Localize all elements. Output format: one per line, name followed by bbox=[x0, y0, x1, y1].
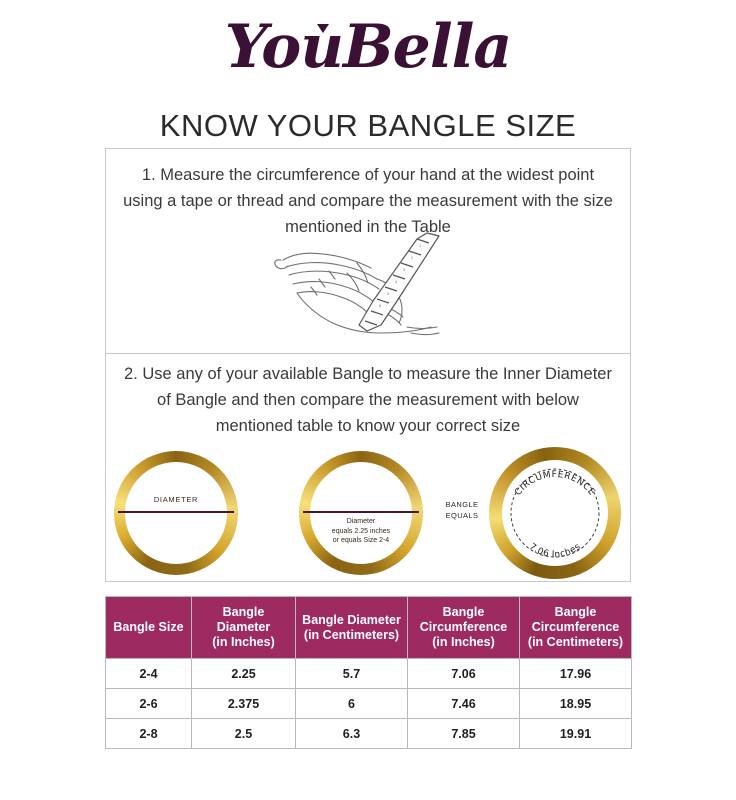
step-2-text: 2. Use any of your available Bangle to m… bbox=[120, 361, 616, 439]
svg-text:5: 5 bbox=[387, 292, 389, 296]
circumference-top-label: CIRCUMFERENCE bbox=[513, 470, 596, 498]
svg-text:6: 6 bbox=[379, 304, 381, 308]
table-header-bangle-size: Bangle Size bbox=[106, 597, 192, 659]
cell-circumference-in: 7.46 bbox=[408, 689, 520, 719]
cell-size: 2-8 bbox=[106, 719, 192, 749]
svg-text:4: 4 bbox=[395, 280, 397, 284]
diameter-label: DIAMETER bbox=[134, 495, 218, 504]
caption-line-2: equals 2.25 inches bbox=[312, 527, 410, 537]
cell-circumference-in: 7.85 bbox=[408, 719, 520, 749]
cell-diameter-cm: 6 bbox=[296, 689, 408, 719]
table-row: 2-4 2.25 5.7 7.06 17.96 bbox=[106, 659, 632, 689]
table-header-row: Bangle Size Bangle Diameter (in Inches) … bbox=[106, 597, 632, 659]
brand-logo: YouBella bbox=[0, 12, 736, 90]
diamond-icon bbox=[317, 24, 329, 33]
table-header-diameter-centimeters: Bangle Diameter (in Centimeters) bbox=[296, 597, 408, 659]
bangle-equals-line-2: EQUALS bbox=[432, 510, 492, 521]
diameter-line bbox=[118, 511, 234, 513]
diameter-line-2 bbox=[303, 511, 419, 513]
brand-name: YouBella bbox=[225, 12, 512, 82]
bangle-equals-label: BANGLE EQUALS bbox=[432, 499, 492, 521]
caption-line-1: Diameter bbox=[312, 517, 410, 527]
cell-circumference-cm: 19.91 bbox=[520, 719, 632, 749]
svg-text:CIRCUMFERENCE: CIRCUMFERENCE bbox=[513, 470, 596, 498]
section-divider bbox=[106, 353, 630, 354]
instructions-box: 1. Measure the circumference of your han… bbox=[105, 148, 631, 582]
bangle-equals-line-1: BANGLE bbox=[432, 499, 492, 510]
cell-circumference-cm: 18.95 bbox=[520, 689, 632, 719]
table-header-circumference-inches: Bangle Circumference (in Inches) bbox=[408, 597, 520, 659]
cell-diameter-in: 2.5 bbox=[192, 719, 296, 749]
page-title: KNOW YOUR BANGLE SIZE bbox=[0, 108, 736, 144]
cell-size: 2-6 bbox=[106, 689, 192, 719]
caption-line-3: or equals Size 2-4 bbox=[312, 536, 410, 546]
cell-circumference-cm: 17.96 bbox=[520, 659, 632, 689]
bangle-ring-diameter bbox=[114, 451, 238, 575]
svg-text:2: 2 bbox=[411, 256, 413, 260]
circumference-labels: CIRCUMFERENCE 7.06 Inches bbox=[489, 447, 621, 579]
cell-diameter-cm: 6.3 bbox=[296, 719, 408, 749]
bangle-diameter-caption: Diameter equals 2.25 inches or equals Si… bbox=[312, 517, 410, 546]
cell-circumference-in: 7.06 bbox=[408, 659, 520, 689]
table-header-circumference-centimeters: Bangle Circumference (in Centimeters) bbox=[520, 597, 632, 659]
svg-text:3: 3 bbox=[403, 268, 405, 272]
table-header-diameter-inches: Bangle Diameter (in Inches) bbox=[192, 597, 296, 659]
table-row: 2-8 2.5 6.3 7.85 19.91 bbox=[106, 719, 632, 749]
hand-with-measuring-tape-illustration: 1 2 3 4 5 6 bbox=[231, 227, 471, 347]
bangle-size-table: Bangle Size Bangle Diameter (in Inches) … bbox=[105, 596, 632, 749]
bangle-ring-measurement bbox=[299, 451, 423, 575]
svg-text:7.06 Inches: 7.06 Inches bbox=[527, 542, 583, 560]
cell-size: 2-4 bbox=[106, 659, 192, 689]
svg-text:1: 1 bbox=[419, 244, 421, 248]
circumference-bottom-label: 7.06 Inches bbox=[527, 542, 583, 560]
cell-diameter-in: 2.375 bbox=[192, 689, 296, 719]
bangle-diagrams: DIAMETER Diameter equals 2.25 inches or … bbox=[106, 447, 630, 577]
cell-diameter-in: 2.25 bbox=[192, 659, 296, 689]
table-row: 2-6 2.375 6 7.46 18.95 bbox=[106, 689, 632, 719]
brand-logo-text: YouBella bbox=[225, 12, 512, 82]
cell-diameter-cm: 5.7 bbox=[296, 659, 408, 689]
